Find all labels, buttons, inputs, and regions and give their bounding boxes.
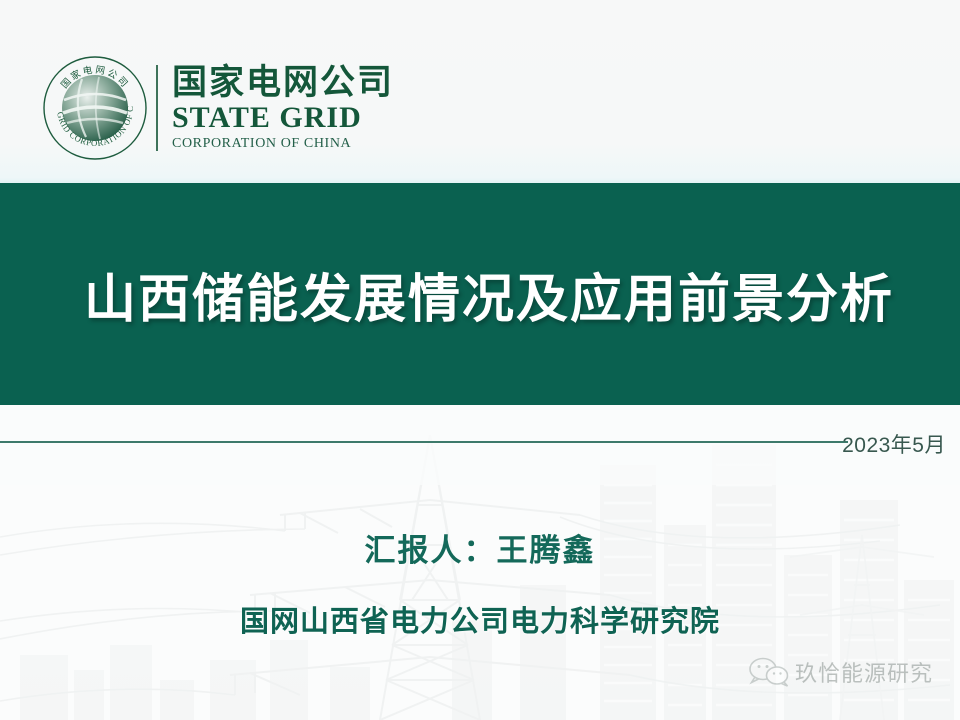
title-banner: 山西储能发展情况及应用前景分析: [0, 183, 960, 405]
state-grid-logo: 国家电网公司 STATE GRID CORPORATION OF CHINA 国…: [42, 52, 394, 164]
watermark-text: 玖恰能源研究: [795, 656, 933, 688]
presenter-label: 汇报人：王腾鑫: [0, 525, 960, 570]
date-label: 2023年5月: [842, 429, 946, 459]
header-divider: [0, 441, 848, 443]
watermark: 玖恰能源研究: [748, 656, 933, 688]
logo-company-en: STATE GRID: [172, 103, 394, 134]
slide-canvas: 国家电网公司 STATE GRID CORPORATION OF CHINA 国…: [0, 0, 960, 720]
wechat-icon: [748, 657, 790, 687]
logo-wordmark: 国家电网公司 STATE GRID CORPORATION OF CHINA: [172, 65, 394, 151]
organization-label: 国网山西省电力公司电力科学研究院: [0, 598, 960, 640]
page-title: 山西储能发展情况及应用前景分析: [84, 257, 894, 332]
logo-company-subtitle: CORPORATION OF CHINA: [172, 137, 394, 151]
state-grid-emblem-icon: 国家电网公司 STATE GRID CORPORATION OF CHINA: [42, 55, 148, 161]
logo-company-cn: 国家电网公司: [172, 65, 394, 100]
header-band: 国家电网公司 STATE GRID CORPORATION OF CHINA 国…: [0, 0, 960, 183]
logo-divider: [156, 65, 158, 151]
